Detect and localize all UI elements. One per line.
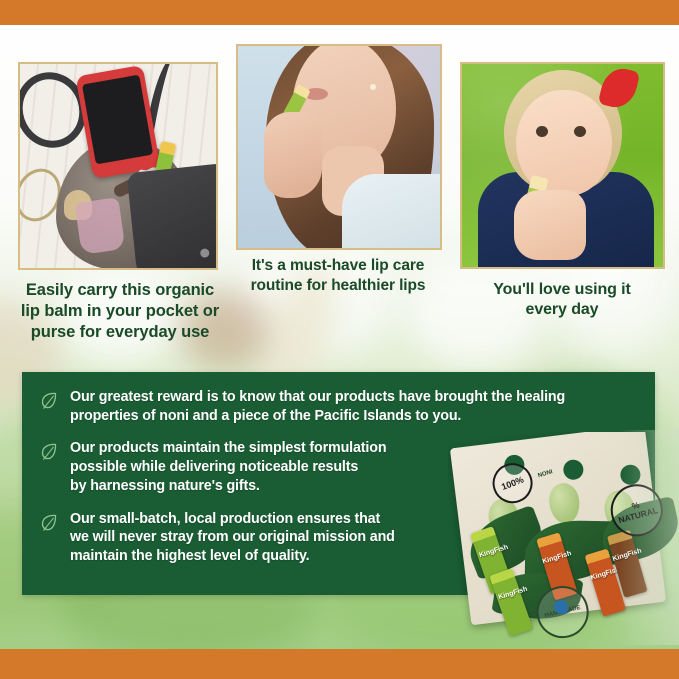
caption-everyday-love: You'll love using it every day — [454, 280, 670, 320]
mission-statement-panel: Our greatest reward is to know that our … — [22, 372, 655, 595]
mission-bullet-text: Our products maintain the simplest formu… — [70, 439, 386, 495]
mission-bullet-line: we will never stray from our original mi… — [70, 528, 395, 547]
leaf-icon — [40, 388, 60, 425]
leaf-icon — [40, 510, 60, 566]
mission-bullet-line: Our small-batch, local production ensure… — [70, 510, 395, 529]
mission-bullet-line: properties of noni and a piece of the Pa… — [70, 407, 565, 426]
photo-toddler-using-balm — [460, 62, 665, 269]
caption-line: every day — [526, 301, 599, 318]
mission-bullet-line: Our products maintain the simplest formu… — [70, 439, 386, 458]
mission-bullet: Our small-batch, local production ensure… — [40, 510, 637, 566]
caption-line: You'll love using it — [493, 281, 631, 298]
mission-bullet-line: Our greatest reward is to know that our … — [70, 388, 565, 407]
mission-bullet-line: by harnessing nature's gifts. — [70, 477, 386, 496]
product-marketing-image: Easily carry this organic lip balm in yo… — [0, 0, 679, 679]
mission-bullet-text: Our greatest reward is to know that our … — [70, 388, 565, 425]
leaf-icon — [40, 439, 60, 495]
mission-bullet-line: possible while delivering noticeable res… — [70, 458, 386, 477]
caption-line: It's a must-have lip care — [252, 257, 425, 274]
caption-handbag: Easily carry this organic lip balm in yo… — [8, 280, 232, 342]
mission-bullet-line: maintain the highest level of quality. — [70, 547, 395, 566]
caption-lip-care-routine: It's a must-have lip care routine for he… — [232, 256, 444, 295]
top-accent-bar — [0, 0, 679, 25]
bottom-accent-bar — [0, 649, 679, 679]
caption-line: Easily carry this organic — [26, 281, 214, 299]
photo-woman-applying-balm — [236, 44, 442, 250]
caption-line: routine for healthier lips — [251, 277, 426, 294]
caption-line: lip balm in your pocket or — [21, 302, 219, 320]
mission-bullet: Our greatest reward is to know that our … — [40, 388, 637, 425]
photo-handbag-flatlay — [18, 62, 218, 270]
caption-line: purse for everyday use — [31, 323, 209, 341]
mission-bullet-text: Our small-batch, local production ensure… — [70, 510, 395, 566]
mission-bullet: Our products maintain the simplest formu… — [40, 439, 637, 495]
mission-bullet-list: Our greatest reward is to know that our … — [22, 372, 655, 566]
